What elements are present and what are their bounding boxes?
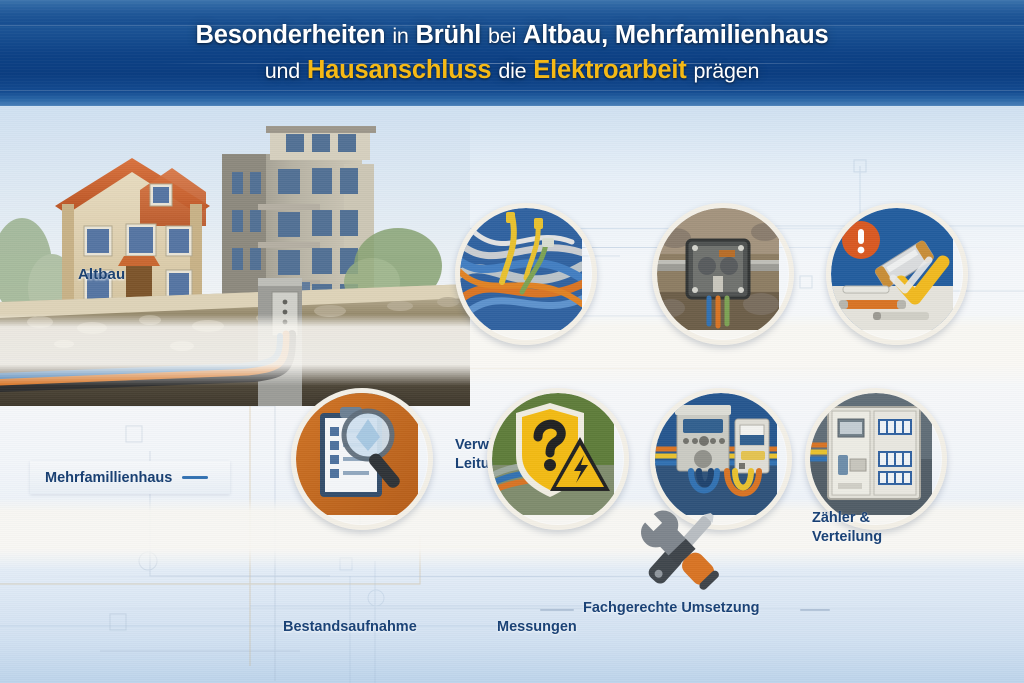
label-mehrfamilienhaus-text: Mehrfamillienhaus [45, 470, 172, 486]
header-seg-besonderheiten: Besonderheiten [196, 21, 386, 49]
shield-warning-icon[interactable] [487, 388, 629, 530]
buildings-illustration [0, 106, 470, 406]
tangled-cables-icon[interactable] [455, 203, 597, 345]
caption-zaehler-verteilung: Zähler & Verteilung [812, 509, 972, 546]
footer-dash-right [800, 609, 830, 611]
wrench-screwdriver-icon [632, 502, 728, 598]
caption-bestandsaufnahme: Bestandsaufnahme [283, 618, 473, 637]
old-fuses-icon[interactable] [826, 203, 968, 345]
header-seg-und: und [265, 59, 300, 83]
header-seg-elektroarbeit: Elektroarbeit [533, 56, 686, 84]
header-title-line2: und Hausanschluss die Elektroarbeit präg… [265, 55, 759, 86]
header-seg-bruehl: Brühl [416, 21, 482, 49]
label-connector-line [182, 476, 208, 479]
label-altbau: Altbau [78, 266, 125, 283]
header-banner: Besonderheiten in Brühl bei Altbau, Mehr… [0, 0, 1024, 106]
clipboard-magnifier-icon[interactable] [291, 388, 433, 530]
header-seg-bei: bei [488, 24, 516, 48]
junction-box-icon[interactable] [652, 203, 794, 345]
header-seg-praegen: prägen [693, 59, 759, 83]
footer-dash-left [540, 609, 574, 611]
header-title-line1: Besonderheiten in Brühl bei Altbau, Mehr… [196, 20, 829, 51]
header-seg-altbau-mfh: Altbau, Mehrfamilienhaus [523, 21, 829, 49]
header-seg-in: in [392, 24, 408, 48]
infographic-canvas: Besonderheiten in Brühl bei Altbau, Mehr… [0, 0, 1024, 683]
caption-fachgerechte-umsetzung: Fachgerechte Umsetzung [583, 600, 759, 616]
scene-area: Altbau Mehrfamillienhaus [0, 106, 1024, 683]
header-seg-die: die [498, 59, 526, 83]
caption-messungen: Messungen [497, 618, 647, 637]
label-mehrfamilienhaus-chip: Mehrfamillienhaus [30, 461, 230, 494]
header-seg-hausanschluss: Hausanschluss [307, 56, 491, 84]
